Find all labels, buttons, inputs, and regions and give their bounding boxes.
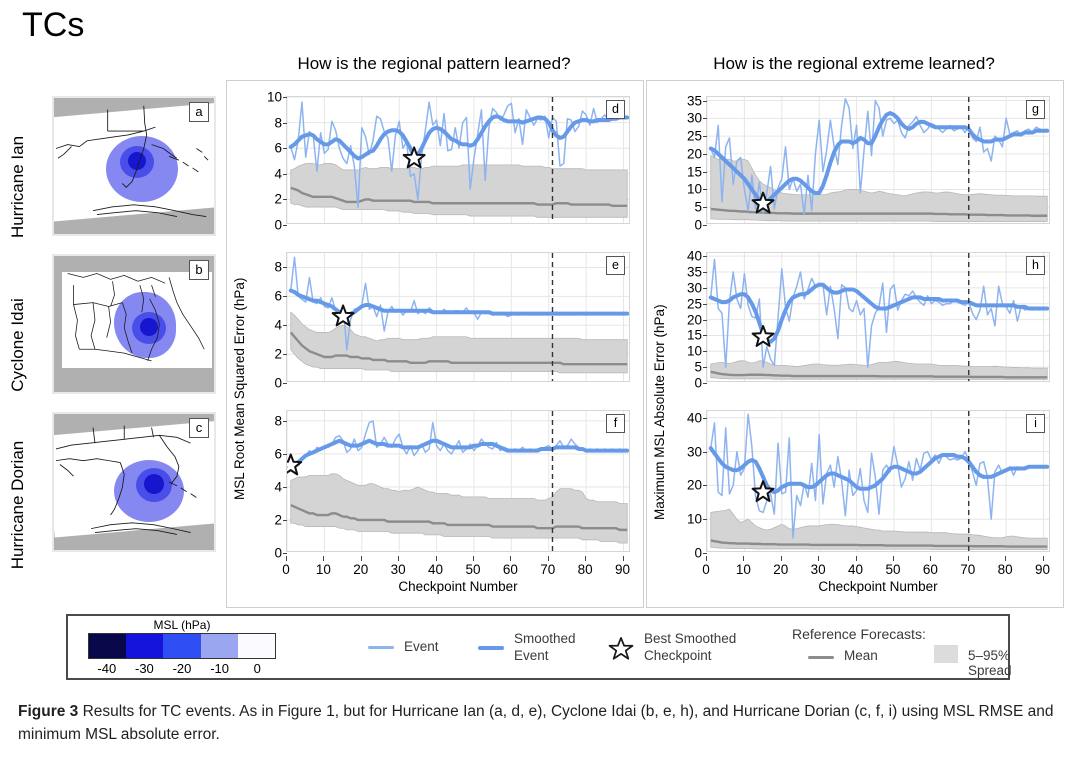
legend-box: MSL (hPa) -40-30-20-100 Event Smoothed E… <box>66 614 1010 680</box>
y-tick-mark-g-0 <box>703 225 707 226</box>
column-title-extreme: How is the regional extreme learned? <box>648 54 1060 74</box>
y-tick-mark-e-4 <box>283 267 287 268</box>
y-tick-mark-i-1 <box>703 519 707 520</box>
y-tick-mark-d-5 <box>283 97 287 98</box>
x-tick-8: 80 <box>578 562 593 577</box>
y-tick-mark-i-3 <box>703 452 707 453</box>
y-tick-i-2: 20 <box>687 478 702 493</box>
x-tick-mark-4 <box>856 556 857 561</box>
x-tick-mark-5 <box>473 556 474 561</box>
x-tick-7: 70 <box>960 562 975 577</box>
reference-mean-line-swatch <box>808 656 834 659</box>
colorbar-band-1 <box>126 634 163 658</box>
figure-caption: Figure 3 Results for TC events. As in Fi… <box>18 700 1068 747</box>
y-tick-g-5: 25 <box>687 129 702 144</box>
x-tick-1: 10 <box>736 562 751 577</box>
y-tick-mark-d-2 <box>283 174 287 175</box>
y-tick-h-2: 10 <box>687 344 702 359</box>
y-tick-f-4: 8 <box>274 413 282 428</box>
x-tick-mark-6 <box>930 556 931 561</box>
colorbar-band-3 <box>201 634 238 658</box>
y-tick-mark-e-0 <box>283 383 287 384</box>
y-tick-g-6: 30 <box>687 111 702 126</box>
x-tick-4: 40 <box>848 562 863 577</box>
chart-panel-h[interactable]: 0510152025303540h <box>706 252 1050 382</box>
x-tick-mark-2 <box>781 556 782 561</box>
y-tick-mark-h-0 <box>703 383 707 384</box>
y-tick-g-4: 20 <box>687 146 702 161</box>
panel-tag-d: d <box>606 100 625 119</box>
x-tick-5: 50 <box>885 562 900 577</box>
x-tick-mark-7 <box>548 556 549 561</box>
x-tick-3: 30 <box>391 562 406 577</box>
legend-label-mean: Mean <box>844 648 878 663</box>
y-tick-mark-g-7 <box>703 101 707 102</box>
y-tick-mark-d-3 <box>283 148 287 149</box>
x-tick-5: 50 <box>465 562 480 577</box>
y-tick-mark-h-3 <box>703 335 707 336</box>
x-tick-mark-2 <box>361 556 362 561</box>
colorbar-tick-0: -40 <box>97 661 116 676</box>
y-tick-mark-f-4 <box>283 421 287 422</box>
colorbar-tick-4: 0 <box>254 661 261 676</box>
y-tick-d-4: 8 <box>274 115 282 130</box>
x-tick-mark-6 <box>510 556 511 561</box>
y-axis-label-rmse: MSL Root Mean Squared Error (hPa) <box>232 278 247 500</box>
y-tick-mark-f-1 <box>283 520 287 521</box>
plot-area-e <box>287 253 629 381</box>
y-tick-i-4: 40 <box>687 410 702 425</box>
y-tick-f-2: 4 <box>274 479 282 494</box>
panel-tag-g: g <box>1026 100 1045 119</box>
colorbar-band-4 <box>238 634 275 658</box>
y-tick-mark-i-0 <box>703 553 707 554</box>
y-tick-mark-i-4 <box>703 418 707 419</box>
x-tick-mark-1 <box>323 556 324 561</box>
legend-label-best-checkpoint-line1: Best Smoothed <box>644 631 736 646</box>
chart-panel-g[interactable]: 05101520253035g <box>706 96 1050 224</box>
y-tick-h-3: 15 <box>687 328 702 343</box>
y-tick-h-7: 35 <box>687 265 702 280</box>
x-tick-mark-9 <box>623 556 624 561</box>
x-tick-mark-8 <box>585 556 586 561</box>
y-tick-h-0: 0 <box>694 376 702 391</box>
x-tick-mark-0 <box>286 556 287 561</box>
colorbar-ticks: -40-30-20-100 <box>88 661 276 677</box>
y-tick-h-1: 5 <box>694 360 702 375</box>
y-tick-e-1: 2 <box>274 347 282 362</box>
y-tick-mark-g-5 <box>703 136 707 137</box>
legend-title-reference-forecasts: Reference Forecasts: <box>792 626 926 642</box>
legend-label-best-checkpoint-line2: Checkpoint <box>644 648 712 663</box>
x-axis-label-i: Checkpoint Number <box>706 579 1050 594</box>
colorbar <box>88 633 276 659</box>
colorbar-tick-2: -20 <box>173 661 192 676</box>
plot-area-i <box>707 411 1049 551</box>
x-tick-6: 60 <box>923 562 938 577</box>
colorbar-title: MSL (hPa) <box>88 618 276 632</box>
colorbar-band-2 <box>163 634 200 658</box>
x-tick-mark-9 <box>1043 556 1044 561</box>
map-tag-b: b <box>189 260 209 280</box>
x-tick-4: 40 <box>428 562 443 577</box>
y-tick-h-5: 25 <box>687 296 702 311</box>
smoothed-event-line-swatch <box>478 646 504 650</box>
x-tick-mark-7 <box>968 556 969 561</box>
reference-spread-swatch <box>934 645 958 663</box>
plot-svg-g <box>707 97 1049 223</box>
y-tick-g-3: 15 <box>687 164 702 179</box>
chart-panel-e[interactable]: 02468e <box>286 252 630 382</box>
y-tick-e-4: 8 <box>274 260 282 275</box>
x-tick-8: 80 <box>998 562 1013 577</box>
y-tick-mark-e-3 <box>283 296 287 297</box>
y-tick-g-2: 10 <box>687 182 702 197</box>
y-tick-mark-d-1 <box>283 199 287 200</box>
plot-svg-f <box>287 411 629 551</box>
y-tick-mark-f-0 <box>283 553 287 554</box>
y-tick-mark-h-2 <box>703 351 707 352</box>
x-tick-mark-1 <box>743 556 744 561</box>
map-panel-hurricane-dorian[interactable]: c <box>52 412 216 552</box>
plot-svg-d <box>287 97 629 223</box>
y-tick-f-0: 0 <box>274 546 282 561</box>
y-tick-mark-f-2 <box>283 487 287 488</box>
x-tick-9: 90 <box>1035 562 1050 577</box>
y-tick-mark-f-3 <box>283 454 287 455</box>
panel-tag-i: i <box>1026 414 1045 433</box>
legend-label-smoothed-event-line2: Event <box>514 648 549 663</box>
y-tick-d-1: 2 <box>274 192 282 207</box>
panel-tag-f: f <box>606 414 625 433</box>
map-panel-hurricane-ian[interactable]: a <box>52 96 216 236</box>
y-tick-i-1: 10 <box>687 512 702 527</box>
y-tick-g-1: 5 <box>694 200 702 215</box>
map-panel-cyclone-idai[interactable]: b <box>52 254 216 394</box>
y-tick-f-3: 6 <box>274 446 282 461</box>
x-tick-9: 90 <box>615 562 630 577</box>
y-tick-e-3: 6 <box>274 289 282 304</box>
plot-area-h <box>707 253 1049 381</box>
y-tick-e-2: 4 <box>274 318 282 333</box>
x-tick-2: 20 <box>773 562 788 577</box>
panel-tag-e: e <box>606 256 625 275</box>
plot-svg-i <box>707 411 1049 551</box>
y-tick-d-5: 10 <box>267 90 282 105</box>
legend-label-spread: 5–95% Spread <box>968 648 1012 678</box>
y-tick-mark-h-8 <box>703 256 707 257</box>
map-tag-a: a <box>189 102 209 122</box>
x-axis-i: 0102030405060708090Checkpoint Number <box>706 556 1050 596</box>
y-tick-d-0: 0 <box>274 218 282 233</box>
x-tick-0: 0 <box>702 562 710 577</box>
y-tick-h-8: 40 <box>687 249 702 264</box>
event-line-swatch <box>368 646 394 649</box>
panel-tag-h: h <box>1026 256 1045 275</box>
y-tick-d-2: 4 <box>274 166 282 181</box>
y-tick-mark-h-5 <box>703 304 707 305</box>
y-tick-i-3: 30 <box>687 444 702 459</box>
y-tick-mark-h-7 <box>703 272 707 273</box>
row-label-hurricane-dorian: Hurricane Dorian <box>8 410 28 600</box>
x-axis-label-f: Checkpoint Number <box>286 579 630 594</box>
best-checkpoint-star-f <box>287 454 301 474</box>
colorbar-band-0 <box>89 634 126 658</box>
chart-panel-d[interactable]: 0246810d <box>286 96 630 224</box>
chart-panel-f[interactable]: 02468f <box>286 410 630 552</box>
chart-panel-i[interactable]: 010203040i <box>706 410 1050 552</box>
y-tick-mark-e-2 <box>283 325 287 326</box>
plot-svg-h <box>707 253 1049 381</box>
legend-label-event: Event <box>404 639 439 654</box>
x-tick-mark-5 <box>893 556 894 561</box>
x-tick-mark-8 <box>1005 556 1006 561</box>
x-tick-mark-3 <box>398 556 399 561</box>
y-tick-mark-h-1 <box>703 367 707 368</box>
y-tick-mark-g-2 <box>703 189 707 190</box>
star-icon <box>608 636 634 662</box>
x-tick-1: 10 <box>316 562 331 577</box>
y-tick-mark-g-6 <box>703 118 707 119</box>
y-tick-mark-h-6 <box>703 288 707 289</box>
y-tick-i-0: 0 <box>694 546 702 561</box>
storm-blob-core <box>144 474 164 494</box>
plot-area-d <box>287 97 629 223</box>
y-tick-mark-i-2 <box>703 485 707 486</box>
y-tick-mark-d-0 <box>283 225 287 226</box>
y-tick-g-7: 35 <box>687 93 702 108</box>
x-tick-0: 0 <box>282 562 290 577</box>
x-tick-mark-3 <box>818 556 819 561</box>
plot-svg-e <box>287 253 629 381</box>
x-tick-2: 20 <box>353 562 368 577</box>
caption-text: Results for TC events. As in Figure 1, b… <box>18 703 1054 743</box>
y-tick-e-0: 0 <box>274 376 282 391</box>
y-tick-mark-g-3 <box>703 172 707 173</box>
colorbar-tick-1: -30 <box>135 661 154 676</box>
storm-blob-core <box>128 152 146 170</box>
column-title-pattern: How is the regional pattern learned? <box>228 54 640 74</box>
y-tick-mark-h-4 <box>703 320 707 321</box>
y-tick-mark-g-1 <box>703 207 707 208</box>
legend-label-smoothed-event-line1: Smoothed <box>514 631 576 646</box>
y-tick-f-1: 2 <box>274 512 282 527</box>
y-tick-h-4: 20 <box>687 312 702 327</box>
caption-figure-number: Figure 3 <box>18 703 78 720</box>
y-tick-d-3: 6 <box>274 141 282 156</box>
x-axis-f: 0102030405060708090Checkpoint Number <box>286 556 630 596</box>
colorbar-tick-3: -10 <box>210 661 229 676</box>
x-tick-mark-4 <box>436 556 437 561</box>
plot-area-g <box>707 97 1049 223</box>
y-tick-h-6: 30 <box>687 280 702 295</box>
storm-blob-core <box>140 318 158 336</box>
page-title: TCs <box>22 8 84 42</box>
x-tick-3: 30 <box>811 562 826 577</box>
y-tick-mark-e-1 <box>283 354 287 355</box>
y-tick-mark-d-4 <box>283 123 287 124</box>
plot-area-f <box>287 411 629 551</box>
y-tick-g-0: 0 <box>694 218 702 233</box>
x-tick-6: 60 <box>503 562 518 577</box>
y-axis-label-abs-error: Maximum MSL Absolute Error (hPa) <box>652 304 667 520</box>
y-tick-mark-g-4 <box>703 154 707 155</box>
x-tick-mark-0 <box>706 556 707 561</box>
map-tag-c: c <box>189 418 209 438</box>
x-tick-7: 70 <box>540 562 555 577</box>
